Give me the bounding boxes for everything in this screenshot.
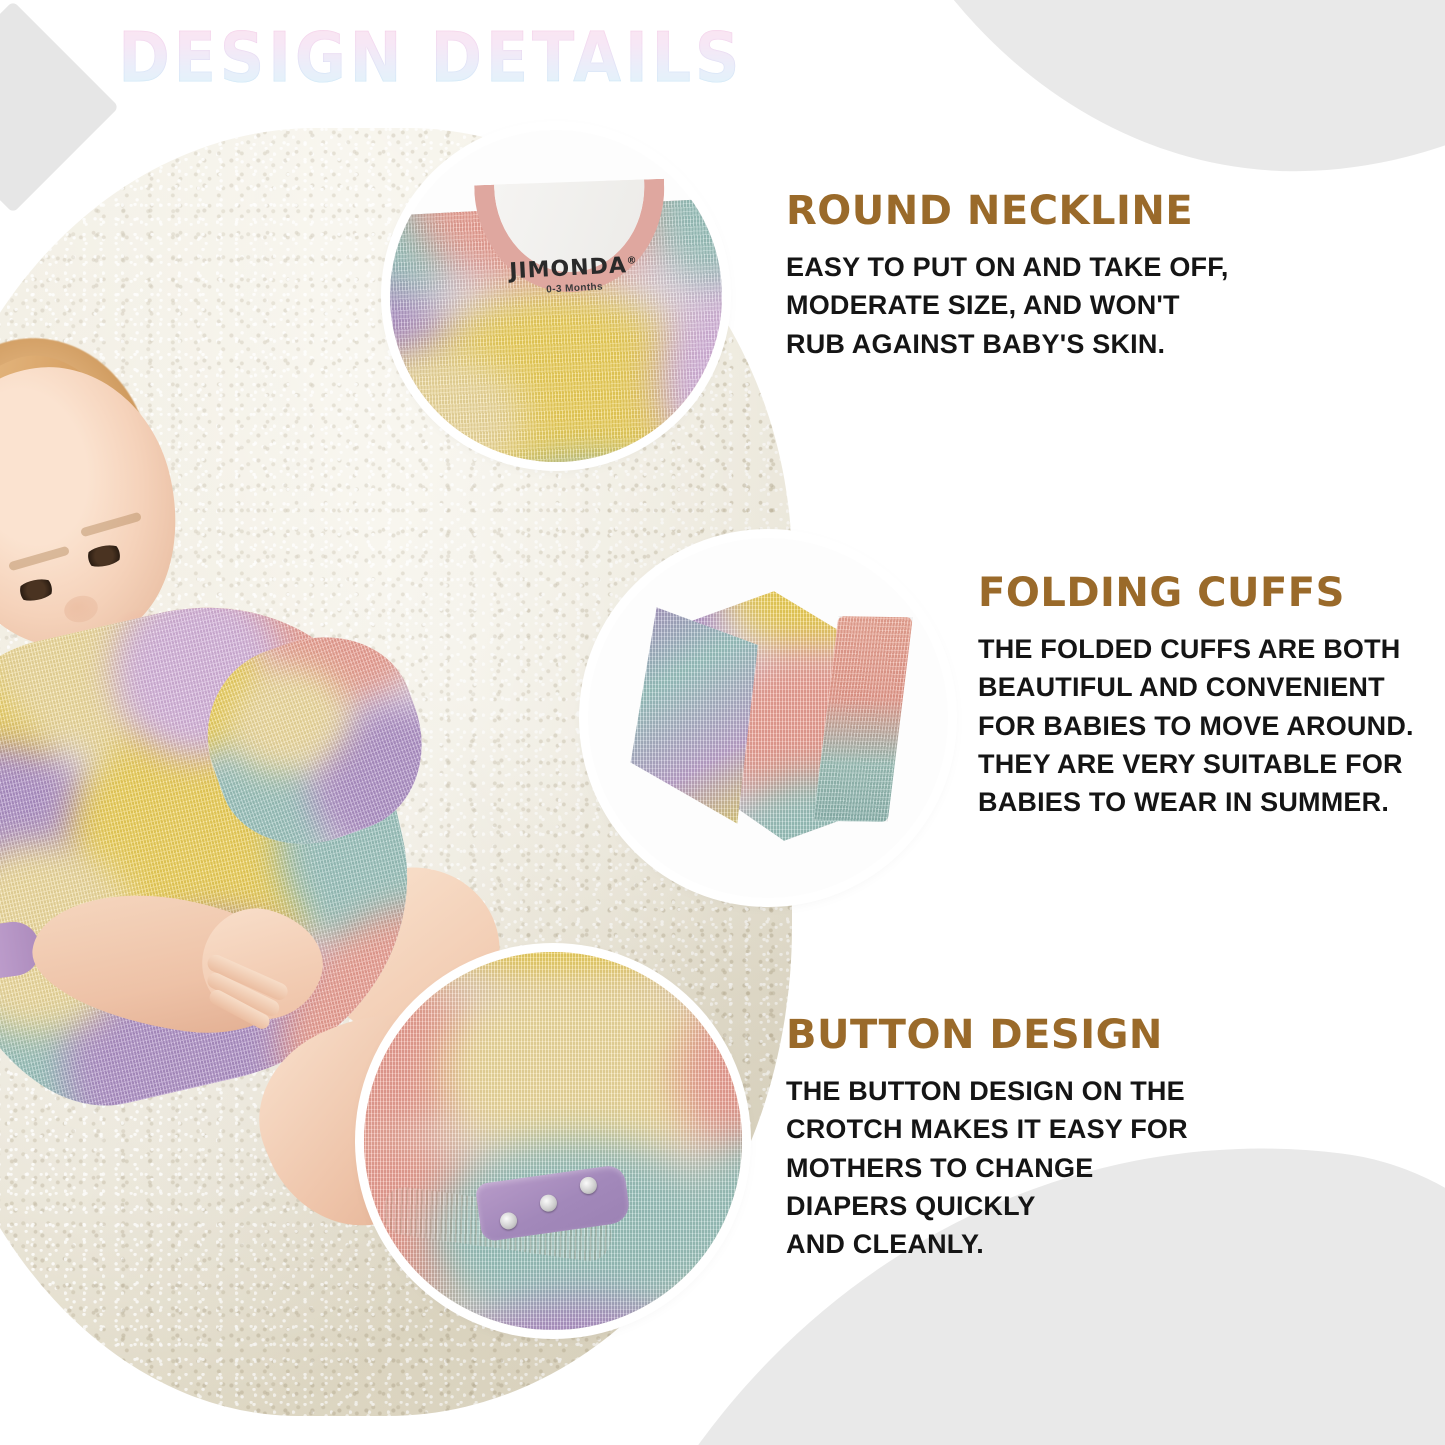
page-title: DESIGN DETAILS	[118, 24, 743, 94]
body-line: FOR BABIES TO MOVE AROUND.	[978, 707, 1414, 745]
section-button-design: BUTTON DESIGN THE BUTTON DESIGN ON THE C…	[786, 1014, 1188, 1264]
body-line: THE BUTTON DESIGN ON THE	[786, 1072, 1188, 1110]
body-line: THEY ARE VERY SUITABLE FOR	[978, 745, 1414, 783]
snap-button-icon	[579, 1176, 598, 1195]
body-line: EASY TO PUT ON AND TAKE OFF,	[786, 248, 1229, 286]
body-line: MODERATE SIZE, AND WON'T	[786, 286, 1229, 324]
body-line: AND CLEANLY.	[786, 1225, 1188, 1263]
section-body: THE FOLDED CUFFS ARE BOTH BEAUTIFUL AND …	[978, 630, 1414, 822]
body-line: CROTCH MAKES IT EASY FOR	[786, 1110, 1188, 1148]
registered-mark-icon: ®	[626, 255, 638, 267]
snap-button-icon	[539, 1194, 558, 1213]
snap-button-icon	[499, 1211, 518, 1230]
inset-round-neckline: JIMONDA® 0-3 Months	[390, 130, 722, 462]
body-line: BEAUTIFUL AND CONVENIENT	[978, 668, 1414, 706]
inset-button-design	[364, 952, 742, 1330]
poster-canvas: DESIGN DETAILS	[0, 0, 1445, 1445]
tiedye-pattern-crotch	[364, 952, 742, 1330]
inset-folding-cuffs	[588, 538, 948, 898]
corner-shape-top-right	[814, 0, 1445, 195]
section-round-neckline: ROUND NECKLINE EASY TO PUT ON AND TAKE O…	[786, 190, 1229, 363]
section-body: EASY TO PUT ON AND TAKE OFF, MODERATE SI…	[786, 248, 1229, 363]
section-body: THE BUTTON DESIGN ON THE CROTCH MAKES IT…	[786, 1072, 1188, 1264]
body-line: RUB AGAINST BABY'S SKIN.	[786, 325, 1229, 363]
crotch-fabric	[364, 952, 742, 1330]
body-line: MOTHERS TO CHANGE	[786, 1149, 1188, 1187]
body-line: BABIES TO WEAR IN SUMMER.	[978, 783, 1414, 821]
body-line: THE FOLDED CUFFS ARE BOTH	[978, 630, 1414, 668]
section-heading: FOLDING CUFFS	[978, 572, 1414, 614]
section-heading: ROUND NECKLINE	[786, 190, 1229, 232]
body-line: DIAPERS QUICKLY	[786, 1187, 1188, 1225]
section-heading: BUTTON DESIGN	[786, 1014, 1188, 1056]
section-folding-cuffs: FOLDING CUFFS THE FOLDED CUFFS ARE BOTH …	[978, 572, 1414, 822]
